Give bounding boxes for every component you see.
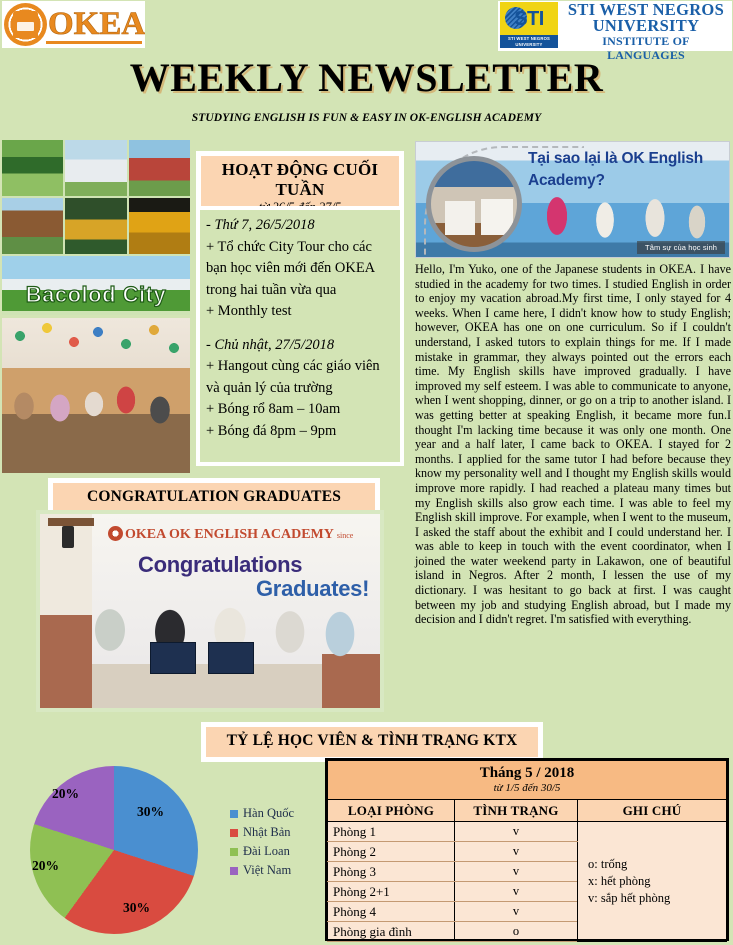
banner-caption: Tâm sự của học sinh — [637, 241, 725, 254]
note-line: o: trống — [588, 856, 726, 873]
table-row: Phòng 1 v o: trống x: hết phòng v: sắp h… — [328, 822, 727, 842]
sti-logo-name: STI WEST NEGROS UNIVERSITY INSTITUTE OF … — [563, 1, 729, 62]
legend-item: Hàn Quốc — [230, 804, 294, 823]
ktx-month-header: Tháng 5 / 2018 từ 1/5 đến 30/5 — [328, 761, 727, 800]
testimonial-banner-photo: Tại sao lại là OK English Academy? Tâm s… — [415, 141, 730, 258]
pie-chart-legend: Hàn Quốc Nhật Bản Đài Loan Việt Nam — [230, 804, 294, 880]
graduation-beam — [48, 518, 94, 526]
banner-shirt — [481, 199, 513, 235]
congratulation-title: CONGRATULATION GRADUATES — [59, 487, 369, 507]
sti-mark-icon: STI STI WEST NEGROS UNIVERSITY — [500, 2, 558, 48]
ktx-month-title: Tháng 5 / 2018 — [328, 764, 726, 782]
lamp-icon — [62, 526, 74, 548]
masthead: WEEKLY NEWSLETTER STUDYING ENGLISH IS FU… — [0, 55, 733, 124]
collage-tile — [65, 140, 126, 196]
sti-logo: STI STI WEST NEGROS UNIVERSITY STI WEST … — [498, 1, 732, 51]
collage-tile — [129, 140, 190, 196]
column-header-status: TÌNH TRẠNG — [455, 800, 578, 822]
sti-mark-subtext: STI WEST NEGROS UNIVERSITY — [500, 35, 558, 48]
ratio-ktx-header: TỶ LỆ HỌC VIÊN & TÌNH TRẠNG KTX — [201, 722, 543, 762]
cell-room: Phòng 2+1 — [328, 882, 455, 902]
banner-circle-photo — [426, 156, 522, 252]
okea-logo-text: OKEA — [48, 8, 145, 41]
page-tagline: STUDYING ENGLISH IS FUN & EASY IN OK-ENG… — [0, 112, 733, 124]
students-group — [2, 368, 190, 473]
okea-seal-icon — [4, 3, 47, 46]
legend-swatch — [230, 867, 238, 875]
pie-slice-label: 20% — [52, 786, 79, 802]
weekend-day2-item: + Bóng đá 8pm – 9pm — [206, 421, 394, 443]
graduation-banner-since: since — [337, 531, 353, 540]
weekend-activity-body: - Thứ 7, 26/5/2018 + Tổ chức City Tour c… — [196, 206, 404, 466]
legend-label: Hàn Quốc — [243, 804, 294, 823]
note-line: x: hết phòng — [588, 873, 726, 890]
testimonial-body-text: Hello, I'm Yuko, one of the Japanese stu… — [415, 262, 731, 718]
bacolod-city-collage: Bacolod City — [2, 140, 190, 315]
graduation-banner-okea: OKEA OK ENGLISH ACADEMY since — [108, 526, 353, 543]
ktx-status-table: Tháng 5 / 2018 từ 1/5 đến 30/5 LOẠI PHÒN… — [325, 758, 729, 941]
sti-name-line2: UNIVERSITY — [563, 18, 729, 34]
congratulation-header-inner: CONGRATULATION GRADUATES — [53, 483, 375, 513]
weekend-day1-item: + Monthly test — [206, 301, 394, 323]
column-header-note: GHI CHÚ — [578, 800, 727, 822]
table-row-header: LOẠI PHÒNG TÌNH TRẠNG GHI CHÚ — [328, 800, 727, 822]
legend-swatch — [230, 848, 238, 856]
weekend-day1-label: - Thứ 7, 26/5/2018 — [206, 215, 394, 237]
legend-label: Đài Loan — [243, 842, 290, 861]
cell-status: v — [455, 882, 578, 902]
okea-logo-rule — [46, 41, 142, 44]
header-band: OKEA STI STI WEST NEGROS UNIVERSITY STI … — [0, 0, 733, 52]
cell-note: o: trống x: hết phòng v: sắp hết phòng — [578, 822, 727, 942]
ratio-ktx-title: TỶ LỆ HỌC VIÊN & TÌNH TRẠNG KTX — [212, 731, 532, 751]
weekend-activity-title: HOẠT ĐỘNG CUỐI TUẦN — [207, 160, 393, 200]
cell-status: o — [455, 922, 578, 942]
cell-room: Phòng 3 — [328, 862, 455, 882]
cell-status: v — [455, 862, 578, 882]
ratio-ktx-header-inner: TỶ LỆ HỌC VIÊN & TÌNH TRẠNG KTX — [206, 727, 538, 757]
okea-logo: OKEA — [2, 1, 145, 48]
cell-room: Phòng 1 — [328, 822, 455, 842]
legend-label: Việt Nam — [243, 861, 291, 880]
ktx-table-element: Tháng 5 / 2018 từ 1/5 đến 30/5 LOẠI PHÒN… — [327, 760, 727, 942]
collage-tile — [2, 140, 63, 196]
cell-room: Phòng 2 — [328, 842, 455, 862]
graduation-banner-okea-text: OKEA OK ENGLISH ACADEMY — [125, 527, 333, 542]
cell-room: Phòng gia đình — [328, 922, 455, 942]
weekend-activity-body-inner: - Thứ 7, 26/5/2018 + Tổ chức City Tour c… — [200, 210, 400, 462]
column-header-room: LOẠI PHÒNG — [328, 800, 455, 822]
sti-mark-text: STI — [500, 4, 558, 34]
bacolod-city-label: Bacolod City — [26, 282, 166, 311]
pie-slice-label: 30% — [123, 900, 150, 916]
cell-status: v — [455, 822, 578, 842]
graduation-photo: OKEA OK ENGLISH ACADEMY since Congratula… — [36, 510, 384, 712]
collage-tile — [2, 198, 63, 254]
legend-label: Nhật Bản — [243, 823, 291, 842]
page-title: WEEKLY NEWSLETTER — [0, 55, 733, 101]
weekend-day2-item: + Bóng rổ 8am – 10am — [206, 399, 394, 421]
cell-status: v — [455, 842, 578, 862]
weekend-day2-item: + Hangout cùng các giáo viên và quản lý … — [206, 356, 394, 399]
certificate-folder — [150, 642, 196, 674]
weekend-day2-label: - Chủ nhật, 27/5/2018 — [206, 335, 394, 357]
cell-status: v — [455, 902, 578, 922]
collage-tile — [129, 198, 190, 254]
legend-item: Nhật Bản — [230, 823, 294, 842]
legend-swatch — [230, 829, 238, 837]
weekend-day1-item: + Tổ chức City Tour cho các bạn học viên… — [206, 237, 394, 302]
table-row-month: Tháng 5 / 2018 từ 1/5 đến 30/5 — [328, 761, 727, 800]
spacer — [206, 323, 394, 335]
students-hangout-photo — [2, 318, 190, 473]
newsletter-page: OKEA STI STI WEST NEGROS UNIVERSITY STI … — [0, 0, 733, 945]
okea-seal-icon — [108, 526, 123, 541]
collage-tile — [65, 198, 126, 254]
legend-item: Đài Loan — [230, 842, 294, 861]
note-line: v: sắp hết phòng — [588, 890, 726, 907]
collage-tile-wide: Bacolod City — [2, 256, 190, 311]
legend-item: Việt Nam — [230, 861, 294, 880]
graduates-group — [78, 568, 378, 708]
banner-title: Tại sao lại là OK English Academy? — [528, 148, 724, 192]
cell-room: Phòng 4 — [328, 902, 455, 922]
student-ratio-chart: 30% 30% 20% 20% Hàn Quốc Nhật Bản Đài Lo… — [8, 760, 318, 940]
pie-slice-label: 30% — [137, 804, 164, 820]
legend-swatch — [230, 810, 238, 818]
ktx-month-subtitle: từ 1/5 đến 30/5 — [328, 782, 726, 795]
banner-shirt — [445, 201, 475, 235]
certificate-folder — [208, 642, 254, 674]
pie-slice-label: 20% — [32, 858, 59, 874]
